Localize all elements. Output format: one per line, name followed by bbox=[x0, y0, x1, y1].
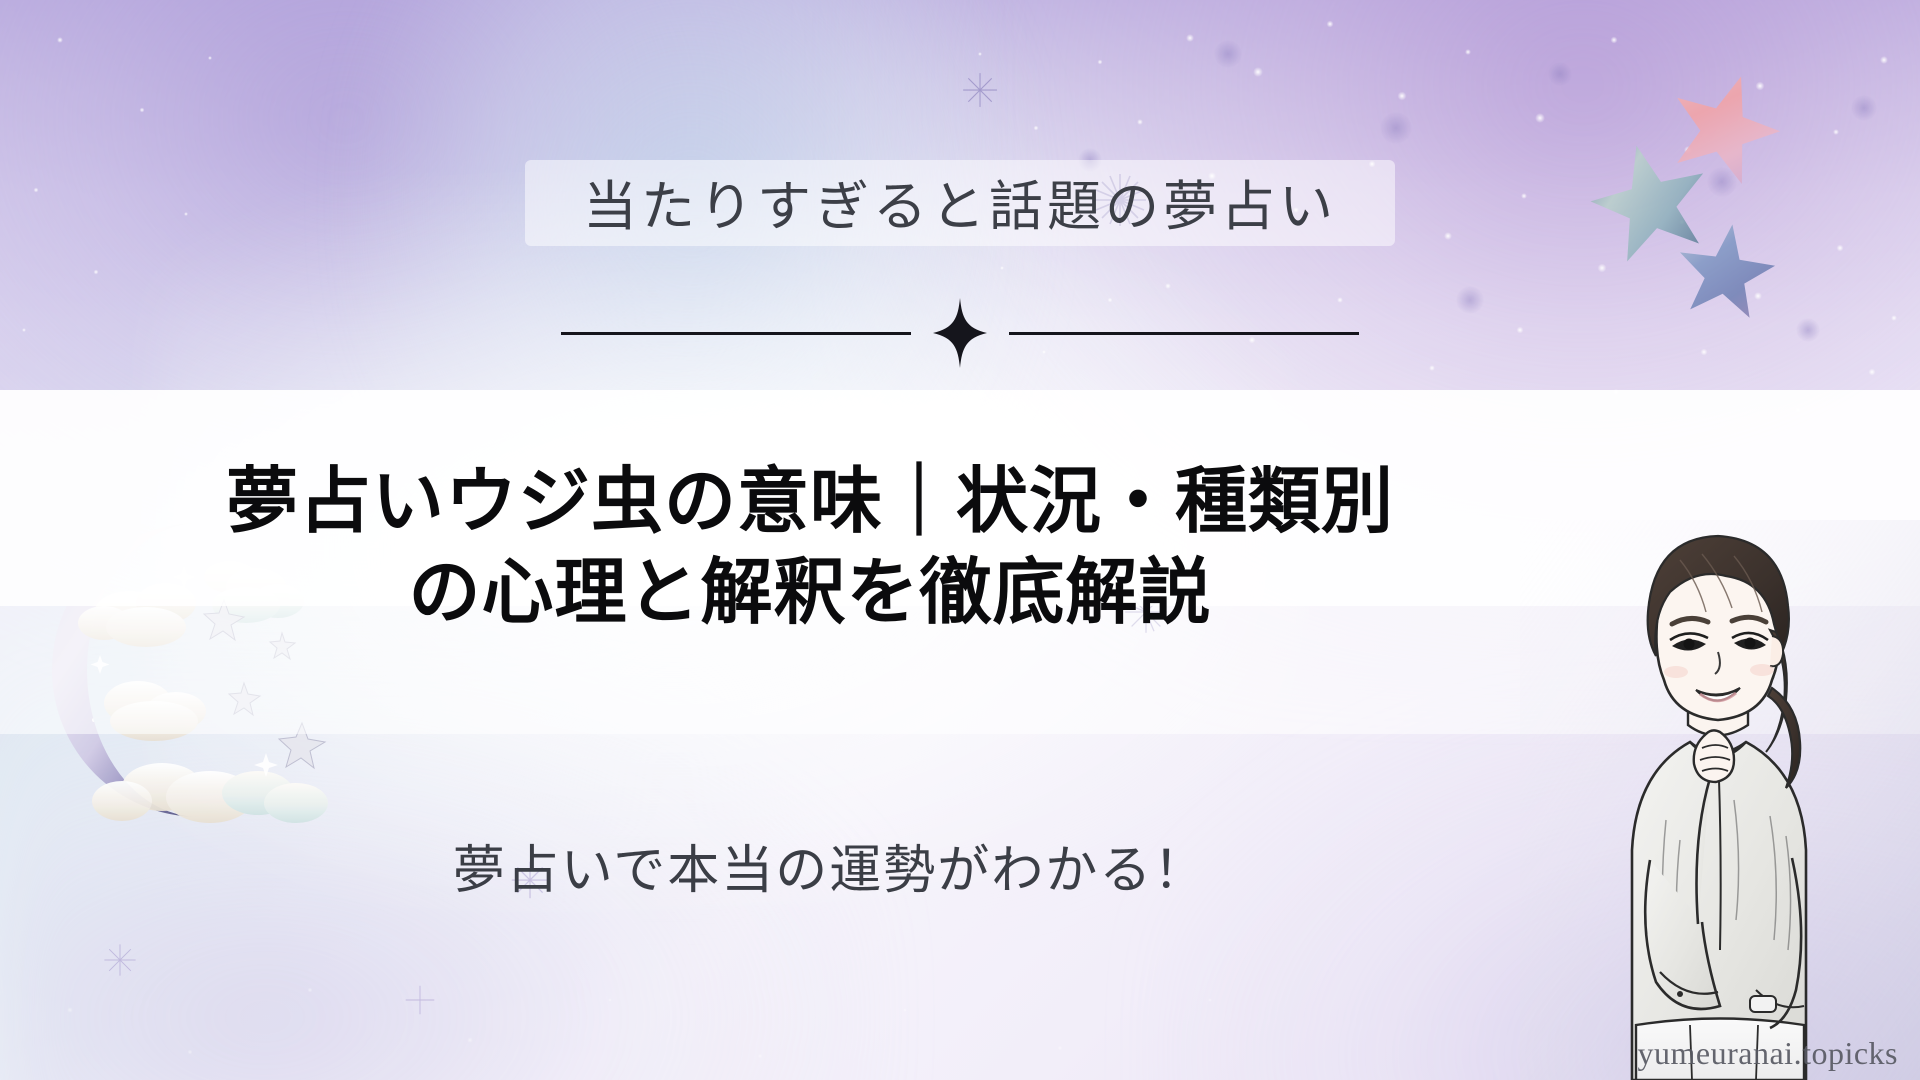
kicker-plate: 当たりすぎると話題の夢占い bbox=[525, 160, 1395, 246]
person-illustration bbox=[1520, 520, 1920, 1080]
ornamental-divider bbox=[550, 298, 1370, 368]
tagline-text: 夢占いで本当の運勢がわかる！ bbox=[0, 828, 1660, 903]
title-line-2: の心理と解釈を徹底解説 bbox=[0, 547, 1620, 638]
four-pointed-sparkle-icon bbox=[933, 298, 987, 368]
kicker-block: 当たりすぎると話題の夢占い bbox=[0, 160, 1920, 246]
illustrated-woman-thinking-icon bbox=[1520, 520, 1920, 1080]
title-line-1: 夢占いウジ虫の意味｜状況・種類別 bbox=[0, 456, 1620, 547]
eyecatch-banner: 当たりすぎると話題の夢占い 夢占いウジ虫の意味｜状況・種類別 の心理と解釈を徹底… bbox=[0, 0, 1920, 1080]
divider-line-left bbox=[561, 332, 911, 335]
site-watermark: yumeuranai.topicks bbox=[1638, 1035, 1898, 1072]
divider-line-right bbox=[1009, 332, 1359, 335]
kicker-text: 当たりすぎると話題の夢占い bbox=[583, 174, 1337, 242]
